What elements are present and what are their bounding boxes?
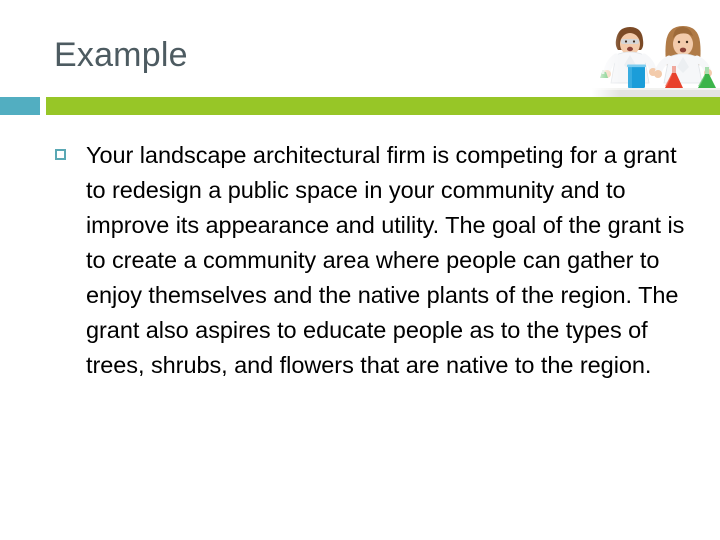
divider-accent-green <box>46 97 720 115</box>
science-experiment-photo <box>592 0 720 97</box>
header-photo <box>592 0 720 97</box>
divider-bar <box>0 97 720 115</box>
square-bullet-icon <box>55 149 66 160</box>
blue-beaker <box>627 65 646 89</box>
bullet-text: Your landscape architectural firm is com… <box>86 138 686 383</box>
list-item: Your landscape architectural firm is com… <box>54 138 686 383</box>
slide: Example <box>0 0 720 540</box>
page-title: Example <box>54 34 188 76</box>
content-placeholder: Your landscape architectural firm is com… <box>54 138 686 383</box>
divider-accent-teal <box>0 97 40 115</box>
